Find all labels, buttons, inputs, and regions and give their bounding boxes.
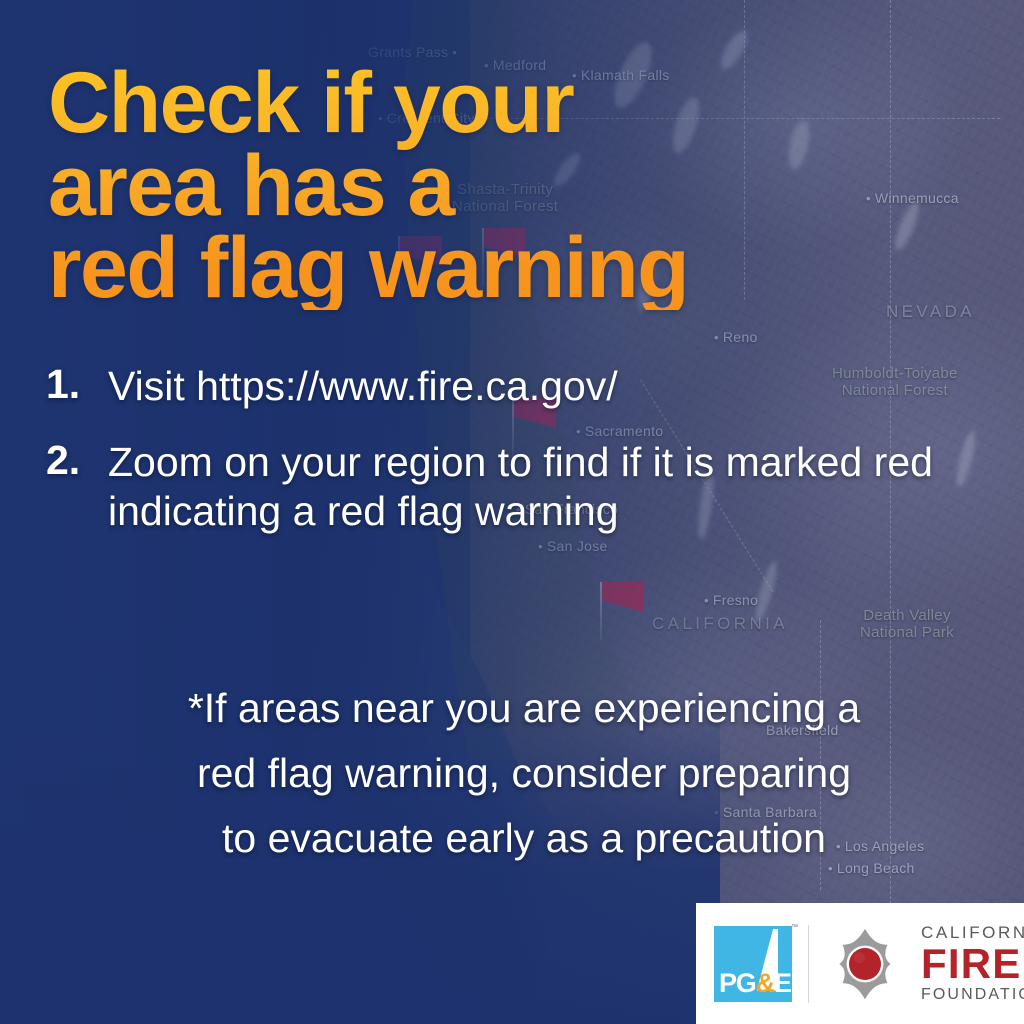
- pge-logo: PG&E ™: [714, 926, 792, 1002]
- page-title: Check if your area has a red flag warnin…: [48, 62, 948, 310]
- infographic-poster: Grants PassMedfordKlamath FallsCrescent …: [0, 0, 1024, 1024]
- footnote-line-1: *If areas near you are experiencing a: [44, 676, 1004, 741]
- cff-line-california: CALIFORNIA: [921, 924, 1024, 941]
- footnote-line-3: to evacuate early as a precaution: [44, 806, 1004, 871]
- logo-divider: [808, 925, 809, 1003]
- footnote-line-2: red flag warning, consider preparing: [44, 741, 1004, 806]
- headline-line-3: red flag warning: [48, 227, 948, 310]
- step-text: Zoom on your region to find if it is mar…: [108, 438, 1006, 535]
- maltese-cross-icon: [825, 924, 905, 1004]
- trademark-symbol: ™: [791, 924, 798, 931]
- list-item: 1. Visit https://www.fire.ca.gov/: [46, 362, 1006, 410]
- pge-wordmark: PG&E: [719, 968, 791, 999]
- headline-line-2: area has a: [48, 145, 948, 228]
- pge-text-amp: &: [756, 968, 774, 998]
- step-number: 1.: [46, 362, 108, 408]
- step-text: Visit https://www.fire.ca.gov/: [108, 362, 618, 410]
- pge-text-pg: PG: [719, 968, 756, 998]
- cff-line-foundation: FOUNDATION: [921, 987, 1024, 1003]
- cff-line-fire: FIRE: [921, 943, 1024, 986]
- list-item: 2. Zoom on your region to find if it is …: [46, 438, 1006, 535]
- sponsor-logo-panel: PG&E ™ CALIFORNIA FIRE FOUNDATION: [696, 903, 1024, 1024]
- footnote-disclaimer: *If areas near you are experiencing a re…: [44, 676, 1004, 870]
- poster-content: Check if your area has a red flag warnin…: [0, 0, 1024, 1024]
- instruction-steps-list: 1. Visit https://www.fire.ca.gov/ 2. Zoo…: [46, 362, 1006, 563]
- california-fire-foundation-wordmark: CALIFORNIA FIRE FOUNDATION: [921, 924, 1024, 1003]
- pge-text-e: E: [774, 968, 791, 998]
- step-number: 2.: [46, 438, 108, 484]
- headline-line-1: Check if your: [48, 62, 948, 145]
